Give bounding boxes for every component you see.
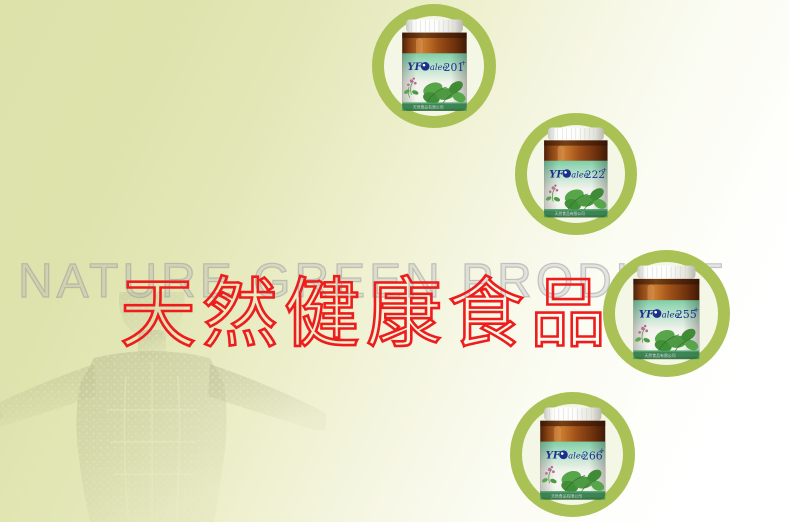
svg-text:+: + bbox=[460, 58, 466, 66]
product-badge-222[interactable]: YFOalee 222 YF alee 222 + bbox=[515, 113, 637, 235]
product-badge-201[interactable]: YFOalee 201 bbox=[372, 4, 496, 128]
product-jar-266: YF alee 266 + 天然食品有限公司 bbox=[534, 406, 612, 504]
product-jar-255: YF alee 255 + 天然食品有限公司 bbox=[627, 264, 706, 363]
svg-text:+: + bbox=[602, 166, 608, 174]
product-jar-222: YF alee 222 + 天然食品有限公司 bbox=[538, 126, 614, 221]
product-jar-201: YF alee 201 + bbox=[396, 18, 473, 115]
svg-text:+: + bbox=[693, 305, 699, 314]
promo-banner: NATURE GREEN PRODUCT 天然健康食品 YFOalee 201 bbox=[0, 0, 789, 522]
svg-text:YF: YF bbox=[550, 170, 565, 181]
svg-text:YF: YF bbox=[407, 62, 422, 73]
headline-chinese: 天然健康食品 bbox=[120, 272, 612, 356]
svg-text:+: + bbox=[599, 447, 605, 455]
svg-text:YF: YF bbox=[639, 308, 654, 320]
svg-text:YF: YF bbox=[545, 450, 560, 461]
product-badge-266[interactable]: YFOalee 266 YF alee 266 + bbox=[510, 392, 635, 517]
product-badge-255[interactable]: YFOalee 255 YF alee 255 + bbox=[603, 250, 730, 377]
